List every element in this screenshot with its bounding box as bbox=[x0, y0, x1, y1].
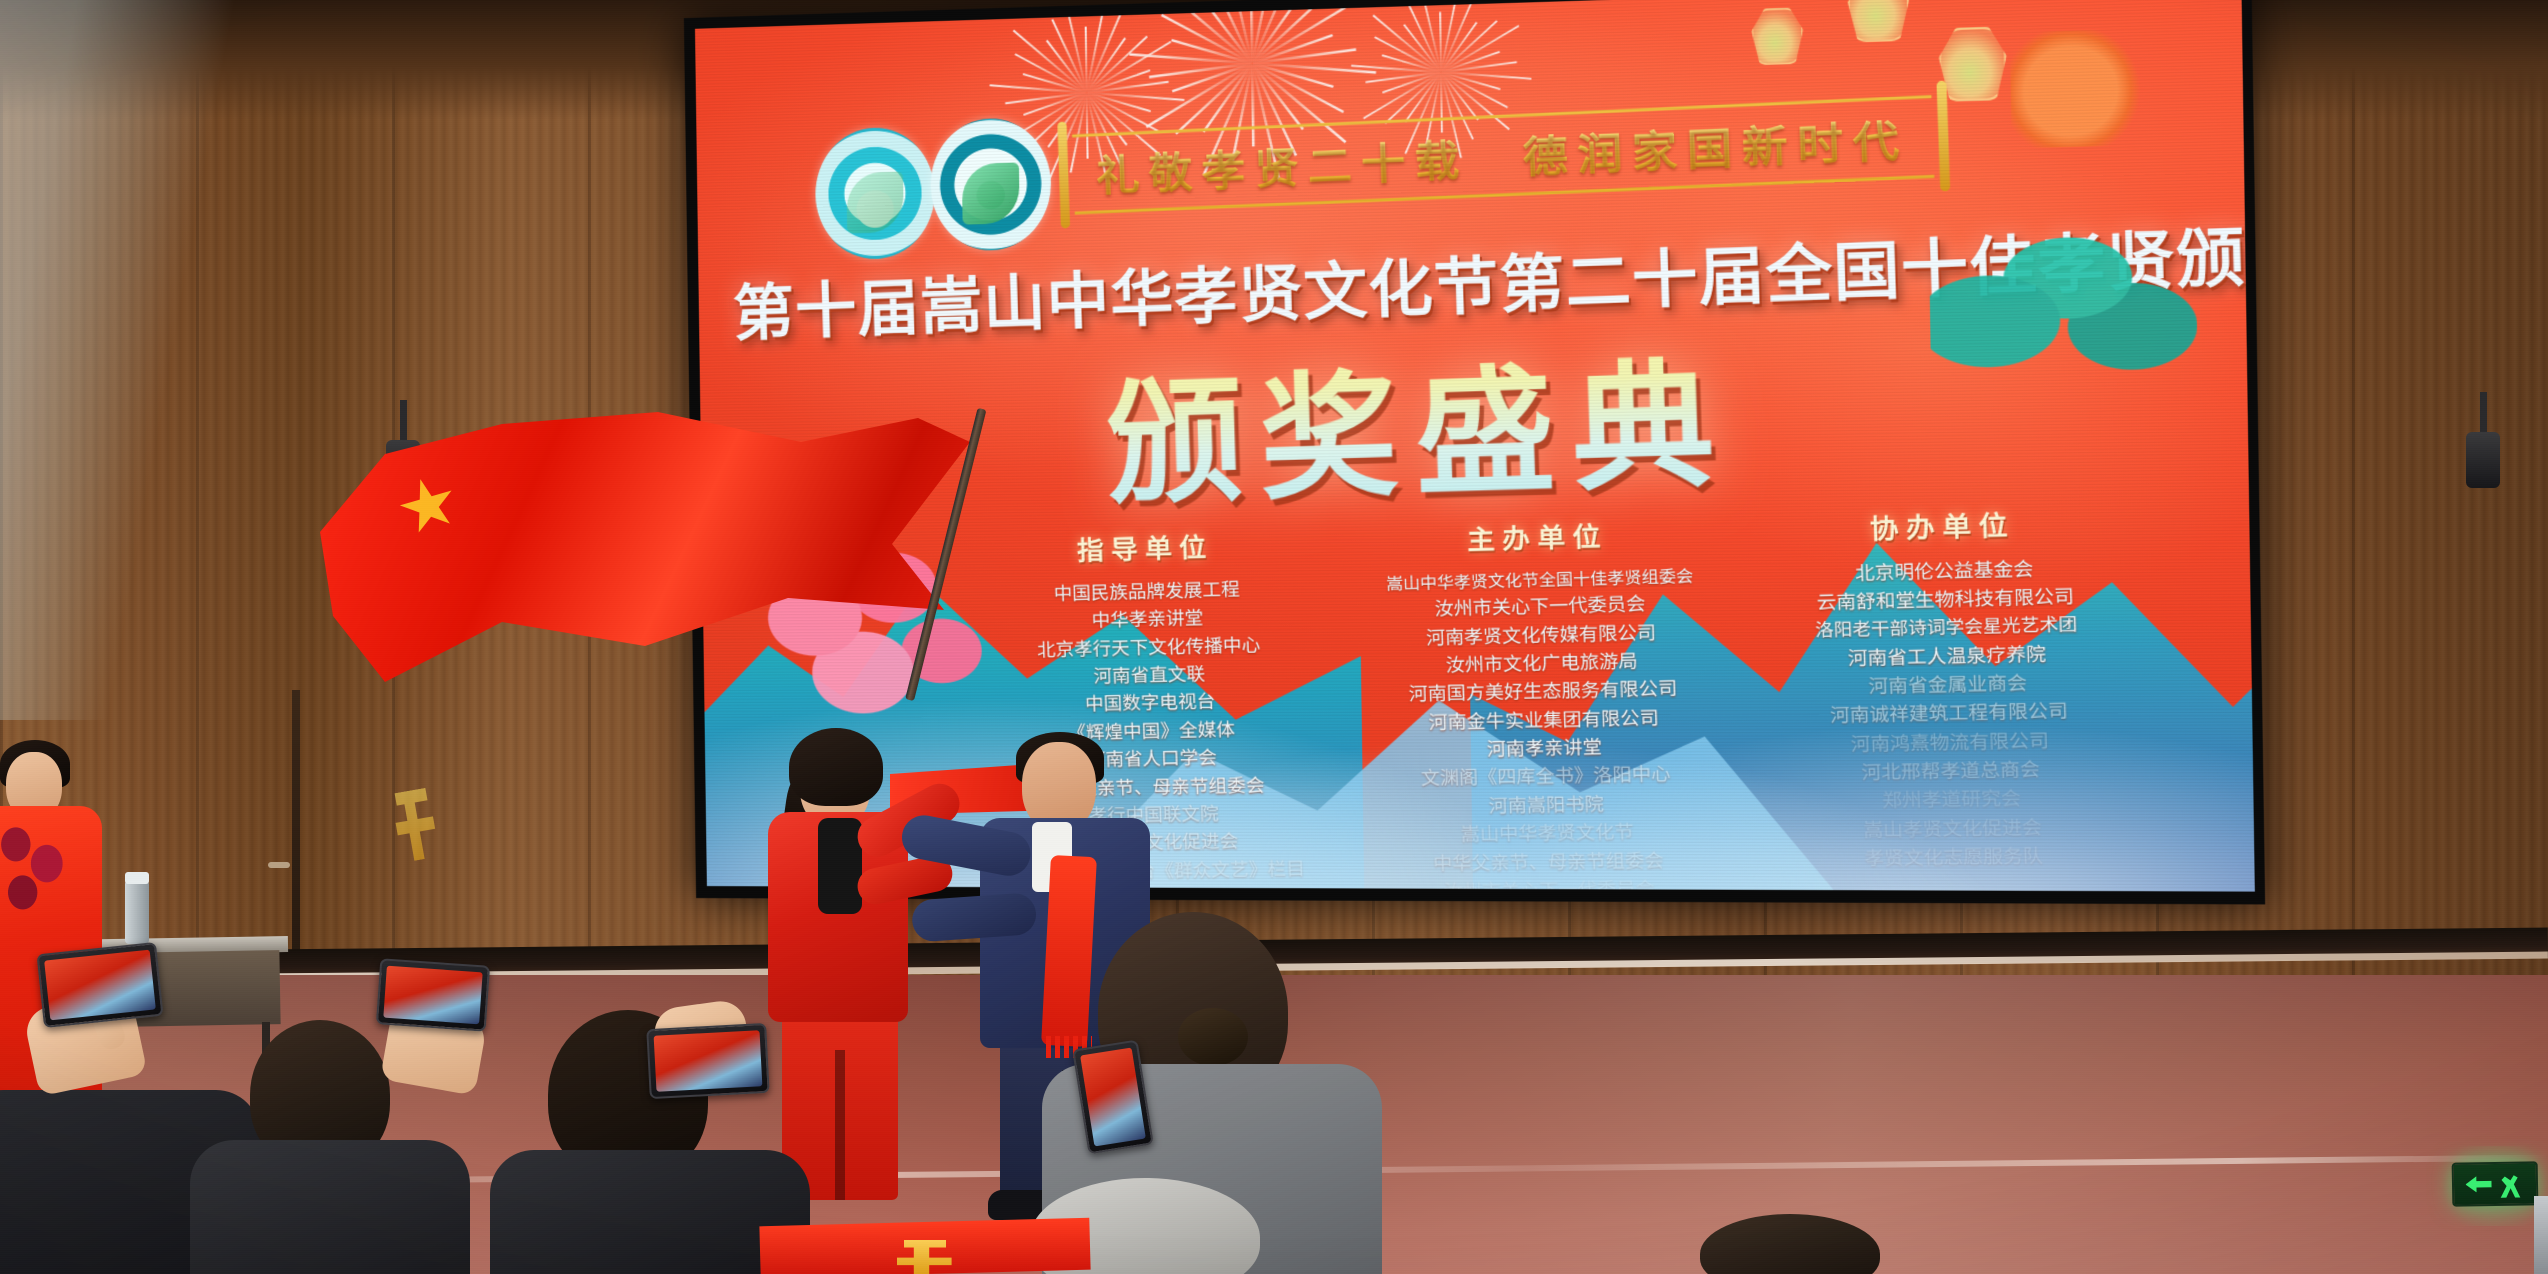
event-big-title: 颁奖盛典 bbox=[1103, 314, 1734, 531]
organizer-heading: 指导单位 bbox=[991, 524, 1302, 570]
left-arrow-icon bbox=[2465, 1176, 2491, 1192]
audience-phone-2[interactable] bbox=[376, 958, 490, 1032]
lantern-icon bbox=[1847, 0, 1909, 43]
woman-red-suit-inner-top bbox=[818, 818, 862, 914]
woman-red-suit-leg-gap bbox=[835, 1050, 845, 1200]
right-edge-strip bbox=[2534, 1196, 2548, 1274]
man-navy-blazer-arm-lower bbox=[911, 892, 1038, 943]
organizer-heading: 主办单位 bbox=[1378, 513, 1699, 560]
organizer-item: 中华父亲节、母亲节组委会 bbox=[1388, 846, 1709, 879]
pine-tree-decoration bbox=[1929, 218, 2198, 413]
woman-red-suit-hair bbox=[789, 728, 883, 806]
persimmon-decoration bbox=[2010, 28, 2145, 148]
door-handle[interactable] bbox=[268, 862, 290, 868]
audience-phone-3[interactable] bbox=[646, 1023, 769, 1099]
wall-left-highlight bbox=[0, 0, 300, 720]
organizer-heading: 协办单位 bbox=[1778, 502, 2109, 550]
host-gown-floral-pattern bbox=[0, 818, 76, 938]
audience-phone-1[interactable] bbox=[36, 942, 163, 1028]
spotlight-right bbox=[2466, 432, 2500, 488]
organizer-column-coorganizer: 协办单位 北京明伦公益基金会 云南舒和堂生物科技有限公司 洛阳老干部诗词学会星光… bbox=[1778, 502, 2124, 892]
phone-screen bbox=[383, 966, 482, 1025]
spotlight-arm-left bbox=[400, 400, 407, 444]
spotlight-arm-right bbox=[2480, 392, 2487, 436]
organizer-columns: 指导单位 中国民族品牌发展工程 中华孝亲讲堂 北京孝行天下文化传播中心 河南省直… bbox=[991, 502, 2124, 892]
audience-member-4-hair-bun bbox=[1178, 1008, 1248, 1066]
phone-screen bbox=[44, 950, 156, 1021]
water-bottle bbox=[125, 880, 149, 944]
running-man-icon bbox=[2496, 1169, 2524, 1197]
organizer-item: 孝贤文化志愿服务队 bbox=[1789, 841, 2120, 875]
phone-screen bbox=[654, 1030, 763, 1091]
emergency-exit-sign bbox=[2452, 1161, 2539, 1206]
audience-member-2-body bbox=[190, 1140, 470, 1274]
screenshot-root: 礼敬孝贤二十载 德润家国新时代 第十届嵩山中华孝贤文化节第二十届全国十佳孝贤颁奖… bbox=[0, 0, 2548, 1274]
phone-screen bbox=[1080, 1047, 1146, 1146]
water-bottle-cap bbox=[125, 872, 149, 884]
organizer-column-host: 主办单位 嵩山中华孝贤文化节全国十佳孝贤组委会 汝州市关心下一代委员会 河南孝贤… bbox=[1378, 513, 1713, 892]
